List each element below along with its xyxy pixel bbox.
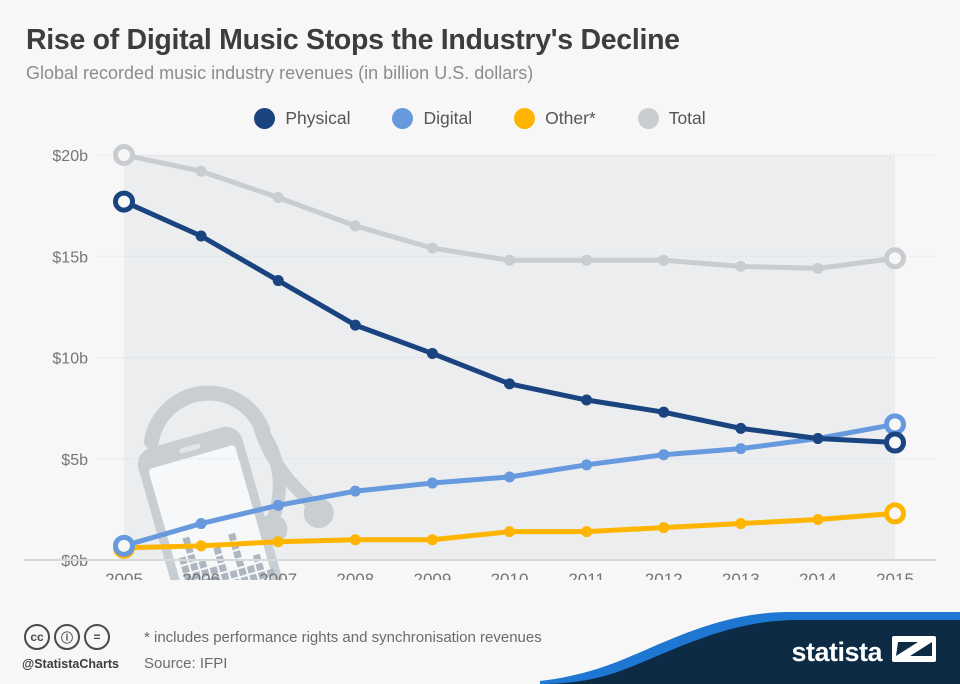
data-point[interactable] bbox=[658, 407, 669, 418]
statista-infographic: Rise of Digital Music Stops the Industry… bbox=[0, 0, 960, 684]
x-axis-tick-label: 2010 bbox=[491, 570, 529, 580]
data-point[interactable] bbox=[504, 471, 515, 482]
legend-swatch-physical-icon bbox=[254, 108, 275, 129]
legend-item-total[interactable]: Total bbox=[638, 108, 706, 129]
footnote-text: * includes performance rights and synchr… bbox=[144, 629, 542, 646]
data-point[interactable] bbox=[812, 263, 823, 274]
legend-label-total: Total bbox=[669, 108, 706, 129]
x-axis-tick-label: 2007 bbox=[259, 570, 297, 580]
data-point[interactable] bbox=[581, 395, 592, 406]
data-point[interactable] bbox=[887, 250, 904, 267]
data-point[interactable] bbox=[735, 518, 746, 529]
data-point[interactable] bbox=[196, 518, 207, 529]
y-axis-tick-label: $20b bbox=[52, 148, 88, 165]
chart-plot-area: $0b$5b$10b$15b$20b 200520062007200820092… bbox=[0, 140, 960, 580]
y-axis-tick-label: $10b bbox=[52, 351, 88, 368]
x-axis-tick-label: 2009 bbox=[413, 570, 451, 580]
data-point[interactable] bbox=[116, 147, 133, 164]
chart-y-axis: $0b$5b$10b$15b$20b bbox=[52, 148, 88, 570]
data-point[interactable] bbox=[658, 522, 669, 533]
data-point[interactable] bbox=[812, 433, 823, 444]
line-chart-svg: $0b$5b$10b$15b$20b 200520062007200820092… bbox=[0, 140, 960, 580]
data-point[interactable] bbox=[116, 193, 133, 210]
statista-handle[interactable]: @StatistaCharts bbox=[22, 657, 119, 671]
creative-commons-badges: cc ⓘ = bbox=[24, 624, 110, 650]
legend-swatch-total-icon bbox=[638, 108, 659, 129]
data-point[interactable] bbox=[887, 505, 904, 522]
chart-title: Rise of Digital Music Stops the Industry… bbox=[26, 24, 680, 57]
data-point[interactable] bbox=[196, 540, 207, 551]
data-point[interactable] bbox=[196, 166, 207, 177]
y-axis-tick-label: $5b bbox=[61, 452, 88, 469]
statista-logo-shape-icon bbox=[540, 612, 960, 684]
legend-item-digital[interactable]: Digital bbox=[392, 108, 472, 129]
data-point[interactable] bbox=[427, 243, 438, 254]
legend-item-physical[interactable]: Physical bbox=[254, 108, 350, 129]
data-point[interactable] bbox=[581, 255, 592, 266]
data-point[interactable] bbox=[116, 537, 133, 554]
chart-subtitle: Global recorded music industry revenues … bbox=[26, 63, 533, 84]
x-axis-tick-label: 2011 bbox=[568, 570, 605, 580]
data-point[interactable] bbox=[504, 526, 515, 537]
x-axis-tick-label: 2012 bbox=[645, 570, 683, 580]
cc-icon: cc bbox=[24, 624, 50, 650]
source-text: Source: IFPI bbox=[144, 655, 227, 672]
y-axis-tick-label: $0b bbox=[61, 553, 88, 570]
legend-item-other[interactable]: Other* bbox=[514, 108, 596, 129]
x-axis-tick-label: 2013 bbox=[722, 570, 760, 580]
data-point[interactable] bbox=[350, 486, 361, 497]
data-point[interactable] bbox=[735, 261, 746, 272]
data-point[interactable] bbox=[273, 275, 284, 286]
data-point[interactable] bbox=[427, 534, 438, 545]
data-point[interactable] bbox=[504, 255, 515, 266]
data-point[interactable] bbox=[581, 526, 592, 537]
data-point[interactable] bbox=[350, 534, 361, 545]
data-point[interactable] bbox=[581, 459, 592, 470]
data-point[interactable] bbox=[427, 478, 438, 489]
data-point[interactable] bbox=[273, 192, 284, 203]
data-point[interactable] bbox=[350, 220, 361, 231]
chart-footer: cc ⓘ = @StatistaCharts * includes perfor… bbox=[0, 612, 960, 684]
x-axis-tick-label: 2015 bbox=[876, 570, 914, 580]
data-point[interactable] bbox=[504, 378, 515, 389]
data-point[interactable] bbox=[812, 514, 823, 525]
data-point[interactable] bbox=[887, 416, 904, 433]
x-axis-tick-label: 2014 bbox=[799, 570, 837, 580]
legend-swatch-other-icon bbox=[514, 108, 535, 129]
data-point[interactable] bbox=[658, 449, 669, 460]
legend-label-physical: Physical bbox=[285, 108, 350, 129]
data-point[interactable] bbox=[427, 348, 438, 359]
data-point[interactable] bbox=[887, 434, 904, 451]
data-point[interactable] bbox=[658, 255, 669, 266]
x-axis-tick-label: 2008 bbox=[336, 570, 374, 580]
legend-label-other: Other* bbox=[545, 108, 596, 129]
cc-by-icon: ⓘ bbox=[54, 624, 80, 650]
x-axis-tick-label: 2005 bbox=[105, 570, 143, 580]
statista-logo[interactable]: statista bbox=[540, 612, 960, 684]
data-point[interactable] bbox=[273, 536, 284, 547]
legend-label-digital: Digital bbox=[423, 108, 472, 129]
statista-wordmark: statista bbox=[791, 637, 882, 668]
data-point[interactable] bbox=[196, 231, 207, 242]
data-point[interactable] bbox=[735, 443, 746, 454]
legend-swatch-digital-icon bbox=[392, 108, 413, 129]
chart-legend: Physical Digital Other* Total bbox=[0, 108, 960, 129]
cc-nd-icon: = bbox=[84, 624, 110, 650]
y-axis-tick-label: $15b bbox=[52, 249, 88, 266]
x-axis-tick-label: 2006 bbox=[182, 570, 220, 580]
data-point[interactable] bbox=[350, 320, 361, 331]
data-point[interactable] bbox=[273, 500, 284, 511]
data-point[interactable] bbox=[735, 423, 746, 434]
